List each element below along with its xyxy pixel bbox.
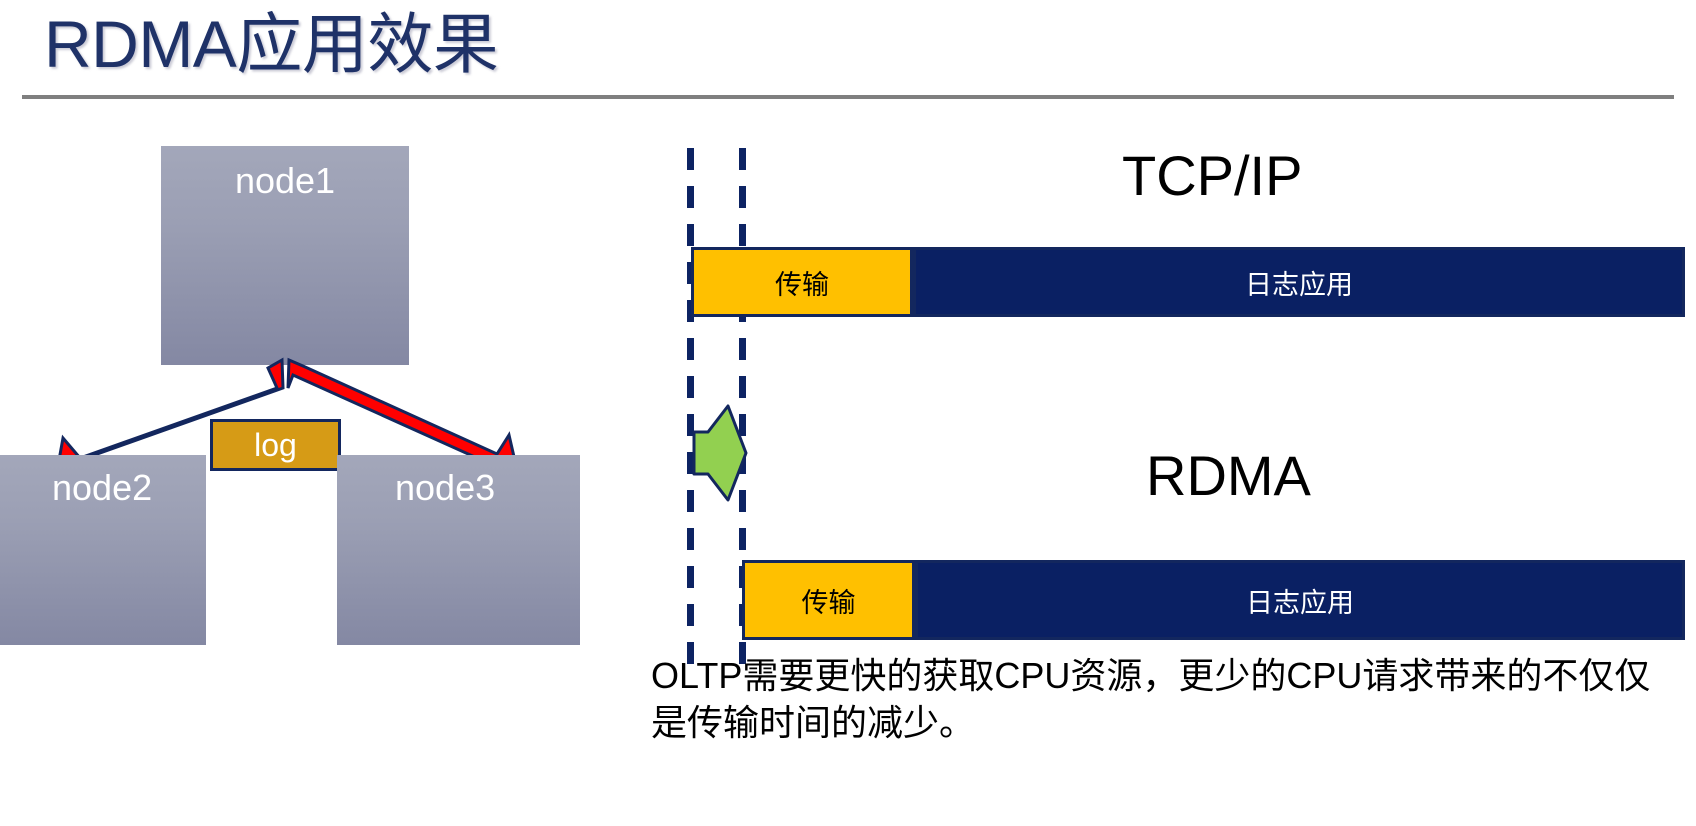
speedup-arrow-icon bbox=[692, 404, 748, 502]
page-title: RDMA应用效果 bbox=[44, 2, 498, 86]
log-box: log bbox=[210, 419, 341, 471]
node3-label: node3 bbox=[395, 467, 495, 508]
node1-box: node1 bbox=[161, 146, 409, 365]
node2-label: node2 bbox=[52, 467, 152, 508]
tcpip-heading: TCP/IP bbox=[1122, 143, 1302, 208]
log-label: log bbox=[254, 427, 297, 463]
tcpip-transfer-label: 传输 bbox=[775, 263, 829, 302]
rdma-transfer-segment: 传输 bbox=[742, 560, 915, 640]
title-divider bbox=[22, 95, 1674, 99]
node2-box: node2 bbox=[0, 455, 206, 645]
slide-canvas: RDMA应用效果 node1 log node2 node3 TCP/IP 传输… bbox=[0, 0, 1696, 826]
tcpip-timeline-bar: 传输 日志应用 bbox=[691, 247, 1685, 317]
rdma-application-segment: 日志应用 bbox=[915, 560, 1685, 640]
node1-label: node1 bbox=[235, 160, 335, 201]
tcpip-transfer-segment: 传输 bbox=[691, 247, 913, 317]
tcpip-application-segment: 日志应用 bbox=[913, 247, 1685, 317]
tcpip-application-label: 日志应用 bbox=[1245, 263, 1353, 302]
rdma-heading: RDMA bbox=[1146, 443, 1311, 508]
rdma-transfer-label: 传输 bbox=[802, 581, 856, 620]
rdma-application-label: 日志应用 bbox=[1246, 581, 1354, 620]
rdma-timeline-bar: 传输 日志应用 bbox=[742, 560, 1685, 640]
node3-box: node3 bbox=[337, 455, 580, 645]
caption-text: OLTP需要更快的获取CPU资源，更少的CPU请求带来的不仅仅是传输时间的减少。 bbox=[651, 652, 1671, 746]
